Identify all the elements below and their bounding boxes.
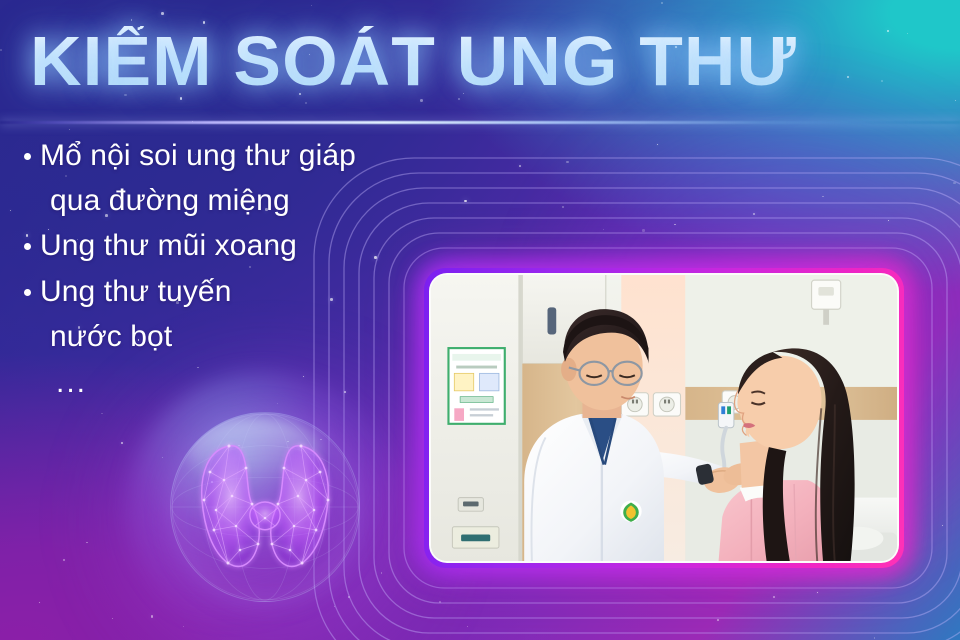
list-item-label: qua đường miệng bbox=[40, 179, 290, 222]
feature-list: Mổ nội soi ung thư giáp qua đường miệng … bbox=[22, 134, 442, 404]
photo-frame-inner bbox=[429, 273, 899, 563]
clinic-photo bbox=[431, 275, 897, 561]
list-item-label: nước bọt bbox=[40, 315, 172, 358]
thyroid-artwork bbox=[152, 398, 370, 616]
list-item: qua đường miệng bbox=[22, 179, 442, 222]
list-item: nước bọt bbox=[22, 315, 442, 358]
list-item-label: Ung thư tuyến bbox=[40, 270, 232, 313]
photo-frame bbox=[424, 268, 904, 568]
bullet-dot-icon bbox=[24, 153, 31, 160]
bullet-dot-icon bbox=[24, 289, 31, 296]
clinic-photo-illustration bbox=[431, 275, 897, 561]
hospital-logo-badge bbox=[620, 501, 641, 522]
page-title: KIỂM SOÁT UNG THƯ bbox=[30, 26, 797, 96]
bullet-dot-icon bbox=[24, 243, 31, 250]
list-item: Ung thư mũi xoang bbox=[22, 224, 442, 267]
list-item: Mổ nội soi ung thư giáp bbox=[22, 134, 442, 177]
title-divider bbox=[0, 121, 960, 124]
thyroid-wireframe-icon bbox=[180, 430, 350, 580]
list-item-label: Ung thư mũi xoang bbox=[40, 224, 297, 267]
promo-banner: KIỂM SOÁT UNG THƯ Mổ nội soi ung thư giá… bbox=[0, 0, 960, 640]
wall-poster bbox=[448, 348, 504, 424]
list-item: Ung thư tuyến bbox=[22, 270, 442, 313]
list-item-label: Mổ nội soi ung thư giáp bbox=[40, 134, 356, 177]
